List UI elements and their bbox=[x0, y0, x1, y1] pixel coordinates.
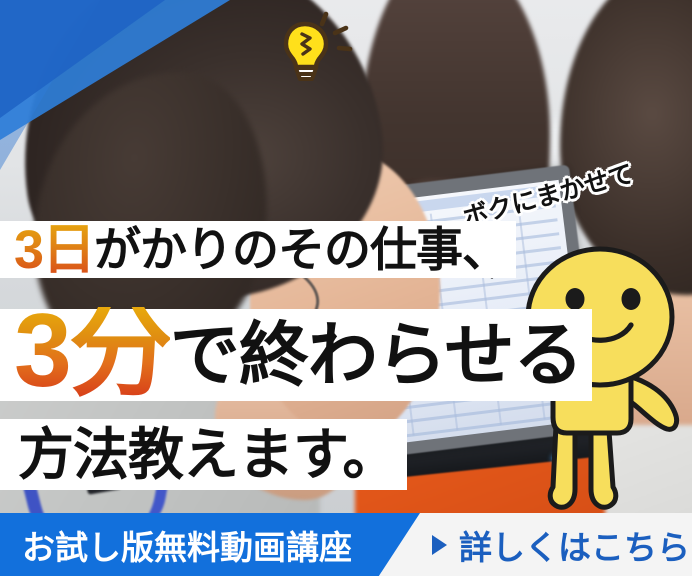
headline-2-highlight: 3分 bbox=[14, 307, 170, 396]
cta-link[interactable]: 詳しくはこちら bbox=[432, 513, 690, 576]
cta-bar[interactable]: お試し版無料動画講座 詳しくはこちら bbox=[0, 513, 692, 576]
headline-3-text: 方法教えます。 bbox=[18, 427, 397, 483]
headline-1-rest: がかりのその仕事、 bbox=[94, 226, 508, 273]
headline-2-rest: で終わらせる bbox=[170, 320, 583, 390]
headline-1-highlight: 3日 bbox=[14, 223, 94, 277]
headline-line-2: 3分で終わらせる bbox=[0, 309, 592, 401]
play-triangle-icon bbox=[432, 535, 447, 555]
headline-line-1: 3日がかりのその仕事、 bbox=[0, 221, 516, 278]
ad-banner[interactable]: ボクにまかせて 3日がかりのその仕事、 bbox=[0, 0, 692, 576]
lightbulb-icon bbox=[262, 8, 354, 82]
cta-link-label[interactable]: 詳しくはこちら bbox=[459, 521, 690, 569]
cta-badge-label[interactable]: お試し版無料動画講座 bbox=[22, 513, 352, 576]
headline-line-3: 方法教えます。 bbox=[0, 419, 407, 490]
